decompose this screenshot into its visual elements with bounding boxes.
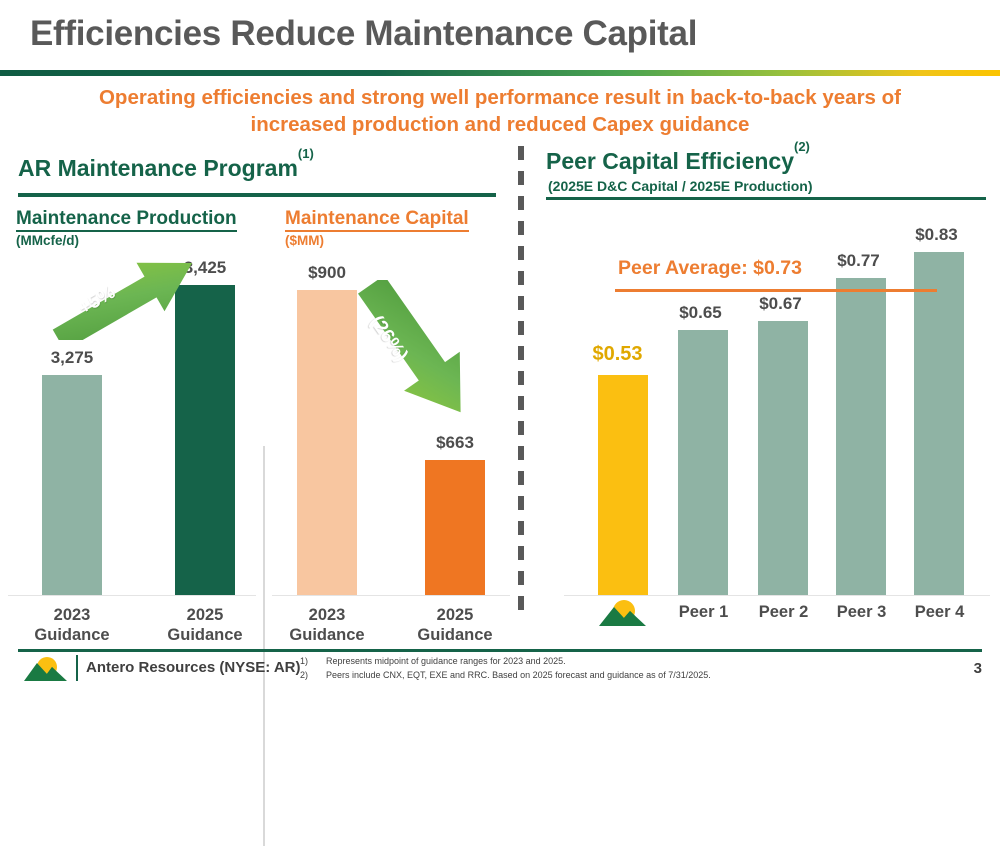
increase-arrow-up: +5% [42, 260, 214, 320]
footnote-item: 2) Peers include CNX, EQT, EXE and RRC. … [300, 669, 711, 683]
footnote-text: Represents midpoint of guidance ranges f… [326, 655, 566, 669]
bar-peer-4 [914, 252, 964, 595]
category-label-peer-1: Peer 1 [661, 602, 746, 622]
category-line: Guidance [289, 626, 364, 644]
category-line: Guidance [167, 626, 242, 644]
category-label-peer-4: Peer 4 [897, 602, 982, 622]
bar-capital-2025 [425, 460, 485, 595]
maintenance-capital-label: Maintenance Capital [285, 208, 469, 232]
peer-average-label: Peer Average: $0.73 [618, 257, 802, 280]
category-label-peer-3: Peer 3 [819, 602, 904, 622]
title-gradient-rule [0, 70, 1000, 76]
category-label-production-2025: 2025 Guidance [145, 605, 265, 645]
page-title: Efficiencies Reduce Maintenance Capital [30, 14, 697, 54]
page-number: 3 [974, 660, 982, 677]
category-line: 2023 [54, 606, 91, 624]
bar-value-label: $0.65 [658, 303, 743, 323]
category-line: Guidance [34, 626, 109, 644]
right-panel-rule [546, 197, 986, 200]
antero-logo-icon [22, 655, 70, 683]
ar-maintenance-charts: 3,275 3,425 +5% $900 $663 [0, 250, 510, 595]
maintenance-capital-unit: ($MM) [285, 230, 469, 248]
panel-dashed-divider [518, 146, 524, 616]
footer-rule [18, 649, 982, 652]
footnote-text: Peers include CNX, EQT, EXE and RRC. Bas… [326, 669, 711, 683]
peer-average-line [615, 289, 937, 292]
right-panel-subtitle: (2025E D&C Capital / 2025E Production) [548, 178, 813, 194]
antero-logo-axis-icon [597, 598, 649, 628]
footer-company-name: Antero Resources (NYSE: AR) [86, 659, 300, 676]
right-panel-title-text: Peer Capital Efficiency [546, 148, 794, 174]
footer-divider [76, 655, 78, 681]
bar-ar [598, 375, 648, 595]
category-line: 2025 [187, 606, 224, 624]
left-panel-rule [18, 193, 496, 197]
bar-value-label: $0.77 [816, 251, 901, 271]
page-subtitle: Operating efficiencies and strong well p… [60, 84, 940, 139]
category-line: 2025 [437, 606, 474, 624]
subchart-separator [263, 446, 265, 846]
footnotes: 1) Represents midpoint of guidance range… [300, 655, 711, 682]
bar-peer-2 [758, 321, 808, 595]
left-panel-title: AR Maintenance Program(1) [18, 155, 314, 182]
bar-value-label-ar: $0.53 [575, 343, 660, 366]
peer-capital-efficiency-chart: $0.53 $0.65 $0.67 $0.77 $0.83 Peer Avera… [560, 230, 990, 595]
bar-production-2023 [42, 375, 102, 595]
footnote-item: 1) Represents midpoint of guidance range… [300, 655, 711, 669]
peer-axis-line [564, 595, 990, 596]
left-panel-footnote-marker: (1) [298, 146, 314, 161]
category-label-peer-2: Peer 2 [741, 602, 826, 622]
left-panel-title-text: AR Maintenance Program [18, 155, 298, 181]
maintenance-production-unit: (MMcfe/d) [16, 230, 237, 248]
footnote-number: 2) [300, 669, 326, 683]
maintenance-capital-heading: Maintenance Capital ($MM) [285, 208, 469, 250]
bar-value-label: 3,275 [12, 348, 132, 368]
bar-value-label: $663 [400, 433, 510, 453]
right-panel-title: Peer Capital Efficiency(2) [546, 148, 810, 175]
right-panel-footnote-marker: (2) [794, 139, 810, 154]
category-line: 2023 [309, 606, 346, 624]
category-label-capital-2025: 2025 Guidance [395, 605, 515, 645]
maintenance-production-label: Maintenance Production [16, 208, 237, 232]
category-label-production-2023: 2023 Guidance [12, 605, 132, 645]
production-axis-line [8, 595, 256, 596]
category-label-capital-2023: 2023 Guidance [267, 605, 387, 645]
bar-value-label: $0.83 [894, 225, 979, 245]
bar-peer-1 [678, 330, 728, 595]
decrease-arrow-down: (26%) [335, 280, 507, 340]
footnote-number: 1) [300, 655, 326, 669]
maintenance-production-heading: Maintenance Production (MMcfe/d) [16, 208, 237, 250]
category-line: Guidance [417, 626, 492, 644]
bar-peer-3 [836, 278, 886, 595]
capital-axis-line [272, 595, 510, 596]
bar-value-label: $0.67 [738, 294, 823, 314]
